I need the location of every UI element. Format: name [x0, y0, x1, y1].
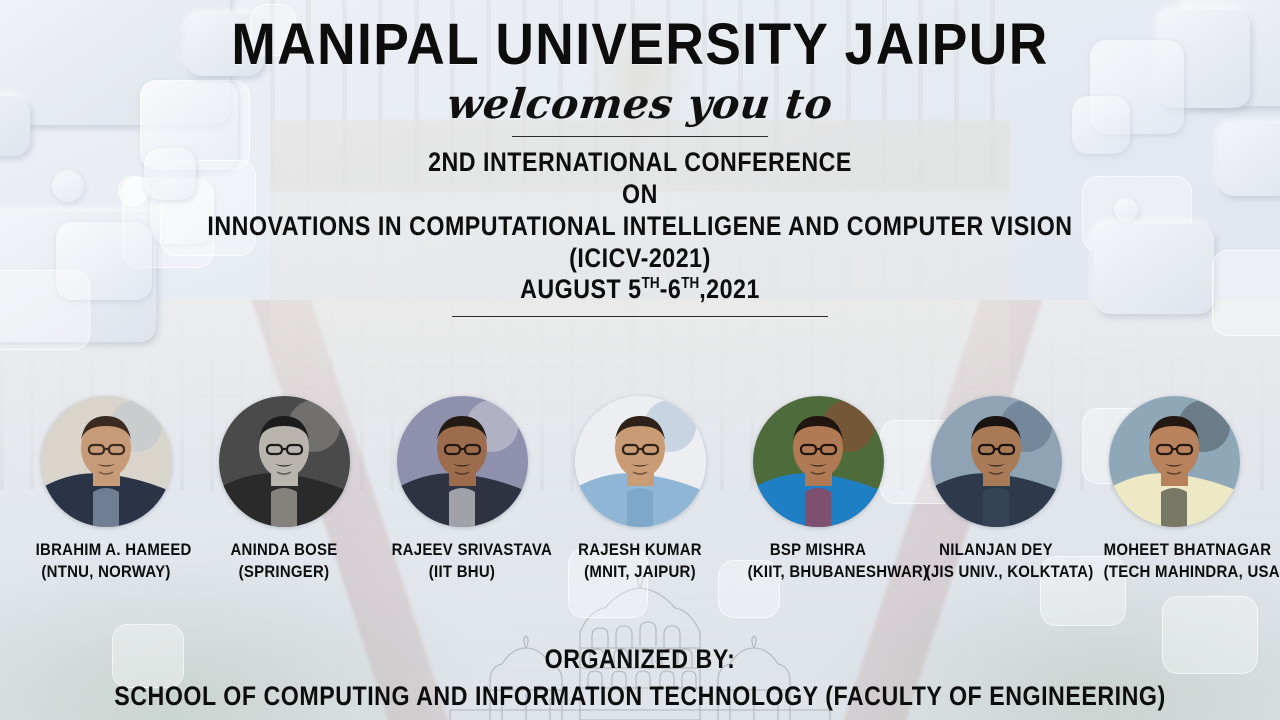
- headline-block: MANIPAL UNIVERSITY JAIPUR welcomes you t…: [0, 0, 1280, 317]
- portrait-icon: [931, 396, 1062, 527]
- footer-block: ORGANIZED BY: SCHOOL OF COMPUTING AND IN…: [0, 644, 1280, 712]
- portrait-icon: [1109, 396, 1240, 527]
- speaker-card: IBRAHIM A. HAMEED(NTNU, NORWAY): [26, 396, 186, 584]
- portrait-icon: [41, 396, 172, 527]
- welcome-script-text: welcomes you to: [0, 80, 1280, 128]
- conference-line-2: ON: [90, 179, 1191, 211]
- speaker-affiliation: (NTNU, NORWAY): [36, 561, 177, 583]
- speaker-card: NILANJAN DEY(JIS UNIV., KOLKTATA): [916, 396, 1076, 584]
- speaker-avatar: [219, 396, 350, 527]
- speaker-avatar: [753, 396, 884, 527]
- speaker-card: RAJESH KUMAR(MNIT, JAIPUR): [560, 396, 720, 584]
- university-title: MANIPAL UNIVERSITY JAIPUR: [51, 16, 1229, 74]
- speaker-avatar: [931, 396, 1062, 527]
- portrait-icon: [397, 396, 528, 527]
- speaker-name: RAJESH KUMAR: [570, 539, 711, 561]
- date-ordinal-2: TH: [681, 275, 699, 292]
- speaker-name: NILANJAN DEY: [926, 539, 1067, 561]
- portrait-icon: [575, 396, 706, 527]
- date-ordinal-1: TH: [642, 275, 660, 292]
- speaker-name: BSP MISHRA: [748, 539, 889, 561]
- date-suffix: ,2021: [699, 274, 760, 304]
- speaker-avatar: [41, 396, 172, 527]
- date-prefix: AUGUST 5: [520, 274, 642, 304]
- speaker-avatar: [1109, 396, 1240, 527]
- speaker-card: ANINDA BOSE(SPRINGER): [204, 396, 364, 584]
- speaker-avatar: [575, 396, 706, 527]
- date-middle: -6: [660, 274, 682, 304]
- speaker-name: RAJEEV SRIVASTAVA: [392, 539, 533, 561]
- conference-line-1: 2ND INTERNATIONAL CONFERENCE: [90, 147, 1191, 179]
- divider-top: [512, 136, 768, 137]
- speakers-row: IBRAHIM A. HAMEED(NTNU, NORWAY)ANINDA BO…: [0, 396, 1280, 584]
- slide-canvas: MANIPAL UNIVERSITY JAIPUR welcomes you t…: [0, 0, 1280, 720]
- speaker-card: BSP MISHRA(KIIT, BHUBANESHWAR): [738, 396, 898, 584]
- speaker-card: RAJEEV SRIVASTAVA(IIT BHU): [382, 396, 542, 584]
- speaker-affiliation: (JIS UNIV., KOLKTATA): [926, 561, 1067, 583]
- speaker-name: IBRAHIM A. HAMEED: [36, 539, 177, 561]
- speaker-affiliation: (IIT BHU): [392, 561, 533, 583]
- organizer-name: SCHOOL OF COMPUTING AND INFORMATION TECH…: [90, 681, 1191, 712]
- speaker-name: MOHEET BHATNAGAR: [1104, 539, 1245, 561]
- organized-by-label: ORGANIZED BY:: [90, 644, 1191, 675]
- conference-acronym: (ICICV-2021): [90, 243, 1191, 275]
- portrait-icon: [219, 396, 350, 527]
- speaker-name: ANINDA BOSE: [214, 539, 355, 561]
- speaker-affiliation: (MNIT, JAIPUR): [570, 561, 711, 583]
- speaker-affiliation: (TECH MAHINDRA, USA): [1104, 561, 1245, 583]
- speaker-affiliation: (SPRINGER): [214, 561, 355, 583]
- speaker-affiliation: (KIIT, BHUBANESHWAR): [748, 561, 889, 583]
- portrait-icon: [753, 396, 884, 527]
- conference-dates: AUGUST 5TH-6TH,2021: [90, 274, 1191, 306]
- speaker-card: MOHEET BHATNAGAR(TECH MAHINDRA, USA): [1094, 396, 1254, 584]
- speaker-avatar: [397, 396, 528, 527]
- conference-line-3: INNOVATIONS IN COMPUTATIONAL INTELLIGENE…: [90, 211, 1191, 243]
- divider-bottom: [452, 316, 828, 317]
